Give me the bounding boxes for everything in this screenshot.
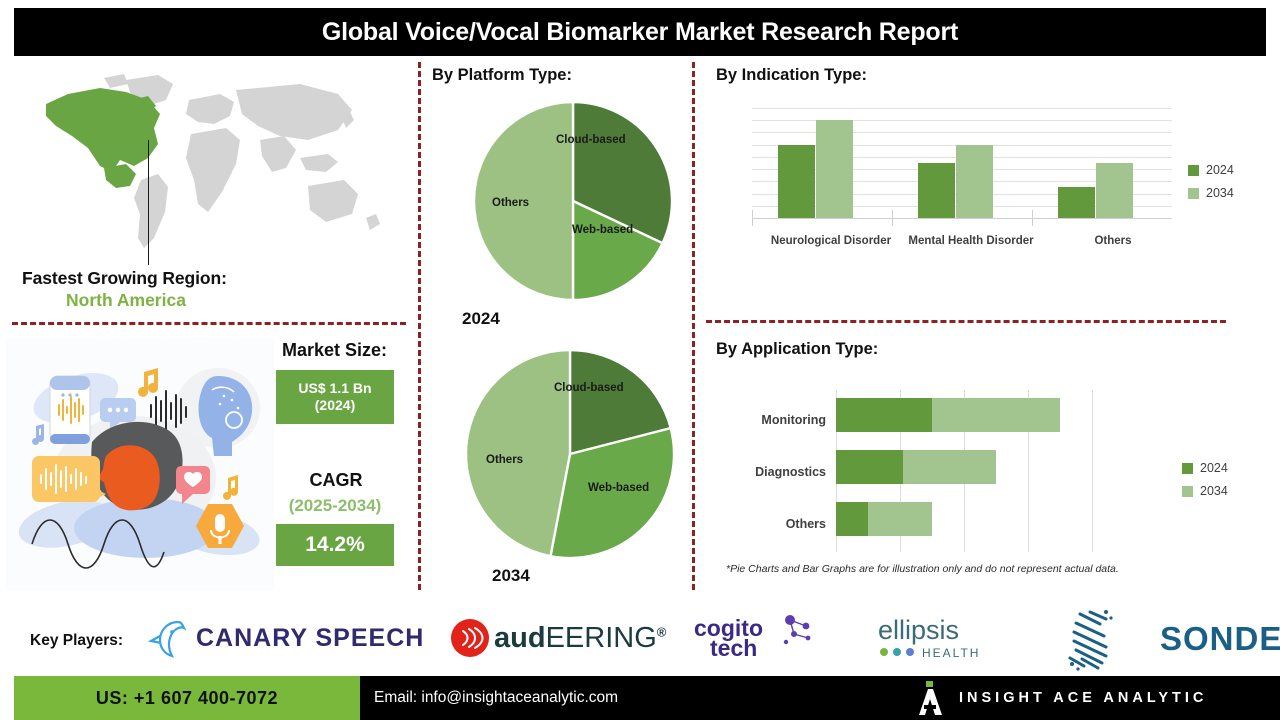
footer-phone-text: US: +1 607 400-7072 [96, 688, 278, 709]
legend-item-2024-app: 2024 [1182, 461, 1228, 475]
legend-item-2034: 2034 [1188, 186, 1234, 200]
application-bar-chart [836, 390, 1092, 552]
gridline [752, 132, 1172, 133]
legend-swatch-2024 [1188, 165, 1199, 176]
bar-row-diagnostics [836, 450, 996, 484]
cagr-value: 14.2% [305, 532, 365, 558]
market-size-label: Market Size: [282, 340, 387, 361]
yellow-waveform-bubble [32, 456, 106, 502]
key-players-label: Key Players: [30, 632, 123, 650]
bar-mental-health-disorder-2024 [918, 163, 955, 218]
bar-neurological-disorder-2034 [816, 120, 853, 218]
application-category-0: Monitoring [706, 413, 826, 427]
logo-sonde: SONDE [1066, 606, 1280, 672]
legend-item-2024: 2024 [1188, 163, 1234, 177]
molecule-icon: cogito tech [694, 612, 822, 664]
bar-segment-monitoring-2034 [932, 398, 1060, 432]
application-legend: 2024 2034 [1182, 461, 1228, 498]
logo-canary-speech-text: CANARY SPEECH [196, 624, 424, 653]
horizontal-divider-left [12, 322, 406, 325]
x-axis-line [752, 218, 1172, 219]
market-size-year: (2024) [315, 397, 355, 415]
bar-segment-diagnostics-2024 [836, 450, 903, 484]
gridline [752, 120, 1172, 121]
pie-2024-label-cloud: Cloud-based [556, 134, 626, 146]
cagr-value-chip: 14.2% [276, 524, 394, 566]
bar-row-others [836, 502, 932, 536]
indication-category-1-text: Mental Health Disorder [908, 235, 1033, 247]
dna-stripes-icon [1066, 606, 1158, 672]
logo-cogito-tech: cogito tech [694, 612, 822, 664]
map-north-america-highlight [46, 88, 160, 188]
application-type-title: By Application Type: [716, 340, 878, 359]
bird-icon [148, 616, 190, 660]
chart-disclaimer-note: *Pie Charts and Bar Graphs are for illus… [726, 563, 1119, 575]
vertical-divider-right [692, 62, 695, 590]
market-size-chip: US$ 1.1 Bn (2024) [276, 370, 394, 424]
svg-text:ellipsis: ellipsis [878, 615, 959, 645]
pie-2034-label-cloud: Cloud-based [554, 382, 624, 394]
legend-swatch-2034 [1188, 188, 1199, 199]
brand-name-text: INSIGHT ACE ANALYTIC [959, 690, 1207, 706]
indication-category-2: Others [1048, 234, 1178, 248]
fastest-growing-region-label: Fastest Growing Region: [22, 268, 227, 289]
logo-sonde-text: SONDE [1160, 620, 1280, 658]
bar-segment-monitoring-2024 [836, 398, 932, 432]
legend-label-2024: 2024 [1206, 163, 1234, 177]
cagr-years: (2025-2034) [276, 496, 394, 516]
platform-type-title: By Platform Type: [432, 66, 572, 85]
footer-contact-block: Email: info@insightaceanalytic.com INSIG… [360, 676, 1280, 720]
pie-2034-label-web: Web-based [588, 482, 649, 494]
pie-2024-year: 2024 [462, 309, 500, 329]
x-axis-tick [752, 210, 753, 226]
bar-segment-others-2034 [868, 502, 932, 536]
market-size-value: US$ 1.1 Bn [298, 380, 371, 398]
legend-label-2024-app: 2024 [1200, 461, 1228, 475]
brand-lockup: INSIGHT ACE ANALYTIC [915, 676, 1207, 720]
logo-audeering: audEERING® [450, 618, 666, 658]
legend-swatch-2024-app [1182, 463, 1193, 474]
application-category-1: Diagnostics [706, 465, 826, 479]
indication-category-0-text: Neurological Disorder [771, 235, 891, 247]
bar-others-2034 [1096, 163, 1133, 218]
bar-segment-diagnostics-2034 [903, 450, 996, 484]
world-map [8, 62, 408, 262]
logo-audeering-text: audEERING® [494, 622, 666, 655]
indication-category-1: Mental Health Disorder [906, 234, 1036, 248]
header-bar: Global Voice/Vocal Biomarker Market Rese… [14, 8, 1266, 56]
insight-ace-logo-icon [915, 681, 945, 715]
three-dots-icon: ellipsis HEALTH [878, 612, 990, 664]
indication-bar-chart [752, 108, 1172, 218]
bar-others-2024 [1058, 187, 1095, 218]
cagr-label: CAGR [300, 470, 372, 491]
x-axis-tick [1032, 210, 1033, 226]
logo-canary-speech: CANARY SPEECH [148, 616, 424, 660]
map-pointer-line [148, 140, 149, 265]
footer-email-text: Email: info@insightaceanalytic.com [374, 689, 618, 707]
gridline [752, 108, 1172, 109]
indication-legend: 2024 2034 [1188, 163, 1234, 200]
application-category-2: Others [706, 517, 826, 531]
pie-2034-year: 2034 [492, 566, 530, 586]
legend-item-2034-app: 2034 [1182, 484, 1228, 498]
bar-mental-health-disorder-2034 [956, 145, 993, 218]
pie-2034-label-others: Others [486, 454, 523, 466]
legend-swatch-2034-app [1182, 486, 1193, 497]
bar-segment-others-2024 [836, 502, 868, 536]
x-axis-tick [892, 210, 893, 226]
svg-text:HEALTH: HEALTH [922, 646, 980, 660]
vertical-divider-left [418, 62, 421, 590]
smart-speaker-icon [50, 376, 90, 444]
pie-2024-label-others: Others [492, 197, 529, 209]
legend-label-2034-app: 2034 [1200, 484, 1228, 498]
bar-row-monitoring [836, 398, 1060, 432]
sound-wave-circle-icon [450, 618, 490, 658]
gridline [1092, 390, 1093, 552]
logo-ellipsis-health: ellipsis HEALTH [878, 612, 990, 664]
illustration-svg [6, 338, 274, 590]
voice-biomarker-illustration [6, 338, 274, 590]
horizontal-divider-right [706, 320, 1226, 323]
bar-neurological-disorder-2024 [778, 145, 815, 218]
indication-category-2-text: Others [1094, 235, 1131, 247]
fastest-growing-region-value: North America [66, 290, 186, 311]
page-title: Global Voice/Vocal Biomarker Market Rese… [322, 18, 958, 47]
legend-label-2034: 2034 [1206, 186, 1234, 200]
pie-2024-label-web: Web-based [572, 224, 633, 236]
svg-text:tech: tech [710, 635, 757, 661]
footer-phone-block: US: +1 607 400-7072 [14, 676, 360, 720]
indication-category-0: Neurological Disorder [766, 234, 896, 248]
indication-type-title: By Indication Type: [716, 66, 867, 85]
world-map-svg [8, 62, 408, 262]
